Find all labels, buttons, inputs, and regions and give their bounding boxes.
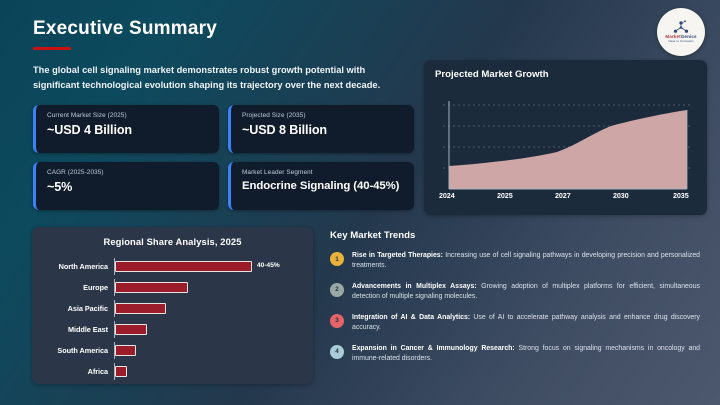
trend-item-4: 4 Expansion in Cancer & Immunology Resea… <box>330 344 708 365</box>
bar-category-label: Asia Pacific <box>42 304 114 313</box>
key-market-trends-section: Key Market Trends 1 Rise in Targeted The… <box>330 230 708 375</box>
bar-category-label: Africa <box>42 367 114 376</box>
bar-row: Asia Pacific <box>42 300 303 317</box>
growth-area-chart: 2024 2025 2027 2030 2035 <box>435 89 696 201</box>
bar-fill <box>115 366 127 377</box>
bar-value-annotation: 40-45% <box>257 262 280 269</box>
trend-heading: Integration of AI & Data Analytics: <box>352 314 470 321</box>
bar-track <box>114 279 303 296</box>
bar-fill <box>115 282 188 293</box>
trends-title: Key Market Trends <box>330 230 708 241</box>
page-title: Executive Summary <box>33 18 217 40</box>
bar-track <box>114 363 303 380</box>
stat-value: Endocrine Signaling (40-45%) <box>242 180 404 192</box>
x-tick-label: 2027 <box>555 191 571 200</box>
bar-row: North America 40-45% <box>42 258 303 275</box>
trend-number-badge: 2 <box>330 283 344 297</box>
bar-row: South America <box>42 342 303 359</box>
stat-card-current-market-size: Current Market Size (2025) ~USD 4 Billio… <box>33 105 219 153</box>
stat-value: ~USD 8 Billion <box>242 123 404 137</box>
trend-heading: Expansion in Cancer & Immunology Researc… <box>352 345 515 352</box>
bar-category-label: Europe <box>42 283 114 292</box>
page-subtitle: The global cell signaling market demonst… <box>33 63 383 93</box>
growth-chart-svg <box>435 89 696 201</box>
trend-heading: Rise in Targeted Therapies: <box>352 252 443 259</box>
bar-track <box>114 342 303 359</box>
stat-card-cagr: CAGR (2025-2035) ~5% <box>33 162 219 210</box>
stat-label: CAGR (2025-2035) <box>47 169 209 176</box>
page-header: Executive Summary <box>33 18 217 50</box>
bar-row: Africa <box>42 363 303 380</box>
title-underline-rule <box>33 47 71 50</box>
stat-card-projected-size: Projected Size (2035) ~USD 8 Billion <box>228 105 414 153</box>
stat-label: Current Market Size (2025) <box>47 112 209 119</box>
x-tick-label: 2035 <box>673 191 689 200</box>
trend-text: Rise in Targeted Therapies: Increasing u… <box>352 251 700 272</box>
trend-heading: Advancements in Multiplex Assays: <box>352 283 477 290</box>
x-tick-label: 2024 <box>439 191 455 200</box>
x-tick-label: 2030 <box>613 191 629 200</box>
growth-area-fill <box>449 110 687 189</box>
trend-text: Advancements in Multiplex Assays: Growin… <box>352 282 700 303</box>
trend-item-3: 3 Integration of AI & Data Analytics: Us… <box>330 313 708 334</box>
bar-row: Europe <box>42 279 303 296</box>
stat-value: ~5% <box>47 180 209 194</box>
bar-fill <box>115 261 252 272</box>
stat-label: Projected Size (2035) <box>242 112 404 119</box>
stat-card-grid: Current Market Size (2025) ~USD 4 Billio… <box>33 105 415 210</box>
regional-chart-title: Regional Share Analysis, 2025 <box>42 236 303 247</box>
logo-tagline: Ideas to Innovation <box>668 41 694 44</box>
x-tick-label: 2025 <box>497 191 513 200</box>
bar-row: Middle East <box>42 321 303 338</box>
stat-card-market-leader-segment: Market Leader Segment Endocrine Signalin… <box>228 162 414 210</box>
trend-number-badge: 3 <box>330 314 344 328</box>
growth-chart-title: Projected Market Growth <box>435 69 696 80</box>
stat-value: ~USD 4 Billion <box>47 123 209 137</box>
trend-text: Integration of AI & Data Analytics: Use … <box>352 313 700 334</box>
brand-logo: MarketGenics Ideas to Innovation <box>657 8 705 56</box>
trend-number-badge: 1 <box>330 252 344 266</box>
trend-item-2: 2 Advancements in Multiplex Assays: Grow… <box>330 282 708 303</box>
regional-bar-chart: North America 40-45% Europe Asia Pacific… <box>42 258 303 380</box>
network-nodes-icon <box>671 20 691 34</box>
logo-circle: MarketGenics Ideas to Innovation <box>657 8 705 56</box>
trend-number-badge: 4 <box>330 345 344 359</box>
bar-category-label: South America <box>42 346 114 355</box>
bar-category-label: Middle East <box>42 325 114 334</box>
trend-item-1: 1 Rise in Targeted Therapies: Increasing… <box>330 251 708 272</box>
bar-fill <box>115 345 136 356</box>
bar-track <box>114 321 303 338</box>
projected-market-growth-panel: Projected Market Growth 2024 2025 2027 2… <box>424 60 707 215</box>
trend-text: Expansion in Cancer & Immunology Researc… <box>352 344 700 365</box>
regional-share-panel: Regional Share Analysis, 2025 North Amer… <box>32 227 313 384</box>
bar-fill <box>115 324 147 335</box>
bar-track: 40-45% <box>114 258 303 275</box>
bar-fill <box>115 303 166 314</box>
bar-track <box>114 300 303 317</box>
stat-label: Market Leader Segment <box>242 169 404 176</box>
bar-category-label: North America <box>42 262 114 271</box>
growth-x-axis-labels: 2024 2025 2027 2030 2035 <box>435 191 696 203</box>
